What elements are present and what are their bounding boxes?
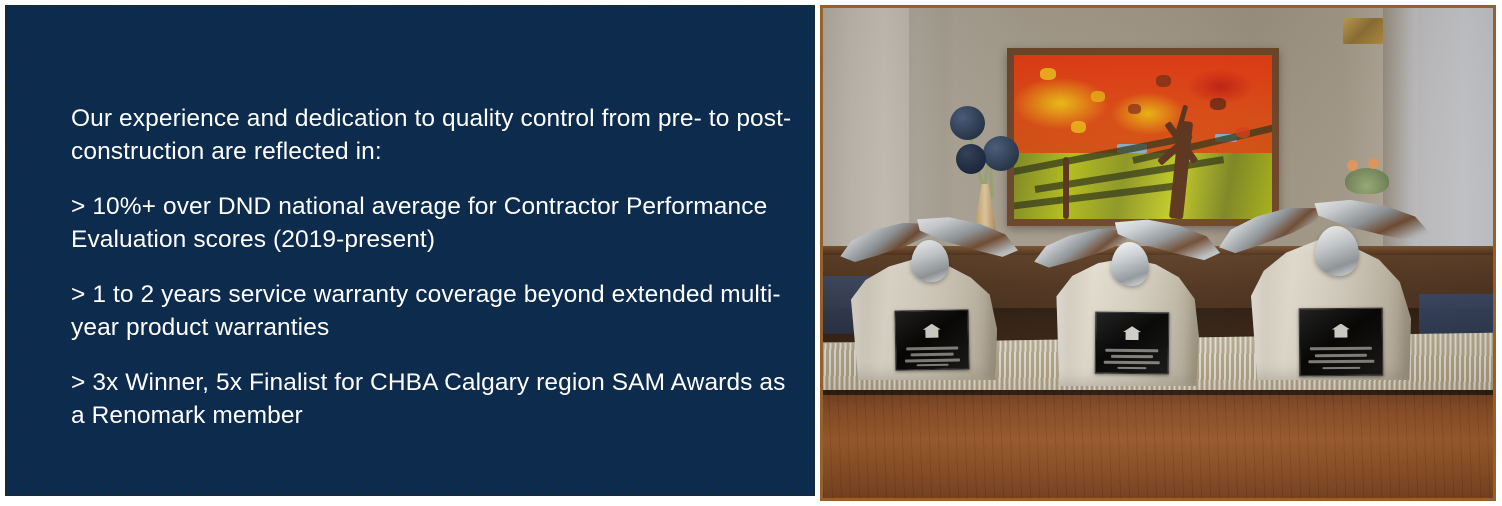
- plaque-text-line: [911, 352, 954, 356]
- trophy-bird-body: [1315, 226, 1359, 276]
- trophy-middle: [1055, 208, 1215, 398]
- plaque-text-line: [1308, 360, 1374, 364]
- trophy-right: [1251, 196, 1429, 402]
- trophy-plaque: [1095, 312, 1170, 375]
- flower-pompom: [983, 136, 1019, 171]
- house-icon: [1123, 326, 1141, 340]
- plaque-text-line: [1111, 355, 1153, 358]
- trophy-bird-body: [911, 240, 949, 282]
- plaque-text-line: [917, 364, 949, 367]
- trophy-plaque: [894, 309, 969, 370]
- house-icon: [1332, 323, 1350, 337]
- plaque-text-line: [1117, 367, 1146, 369]
- trophy-plaque: [1299, 308, 1384, 377]
- plaque-text-line: [1322, 367, 1360, 369]
- painting-speck: [1040, 68, 1056, 80]
- house-icon: [923, 324, 941, 338]
- table-grain: [823, 390, 1493, 498]
- succulent-bloom: [1368, 158, 1379, 169]
- awards-photo: [823, 8, 1493, 498]
- bullet-sam-awards: > 3x Winner, 5x Finalist for CHBA Calgar…: [71, 367, 793, 432]
- intro-paragraph: Our experience and dedication to quality…: [71, 103, 793, 168]
- painting-speck: [1156, 75, 1171, 87]
- plaque-text-line: [1105, 349, 1158, 352]
- slide-container: Our experience and dedication to quality…: [0, 0, 1502, 506]
- trophy-left: [851, 204, 1011, 390]
- photo-panel: [820, 5, 1496, 501]
- text-panel: Our experience and dedication to quality…: [5, 5, 815, 496]
- plaque-text-line: [906, 346, 958, 350]
- bullet-performance-scores: > 10%+ over DND national average for Con…: [71, 191, 793, 256]
- plaque-text-line: [1315, 354, 1367, 357]
- trophy-bird-body: [1111, 242, 1149, 286]
- wood-table: [823, 390, 1493, 498]
- bullet-warranty-coverage: > 1 to 2 years service warranty coverage…: [71, 279, 793, 344]
- plaque-text-line: [1310, 347, 1372, 351]
- plaque-text-line: [905, 358, 960, 362]
- text-stack: Our experience and dedication to quality…: [71, 103, 793, 433]
- succulent-plant: [1345, 168, 1389, 194]
- framed-painting: [1007, 48, 1279, 226]
- painting-speck: [1071, 121, 1086, 133]
- painting-speck: [1091, 91, 1105, 102]
- painting-speck: [1236, 127, 1250, 138]
- plaque-text-line: [1104, 361, 1160, 364]
- painting-speck: [1210, 98, 1226, 110]
- succulent-bloom: [1347, 160, 1358, 171]
- flower-pompom: [956, 144, 986, 174]
- flower-pompom: [950, 106, 985, 140]
- painting-canvas: [1014, 55, 1272, 219]
- small-wall-art: [1343, 18, 1383, 44]
- painting-speck: [1128, 104, 1141, 114]
